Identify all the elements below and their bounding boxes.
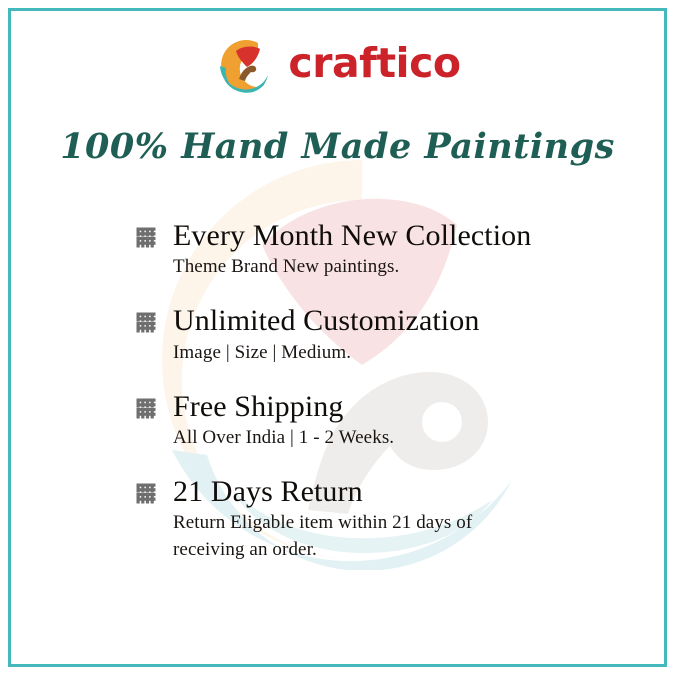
feature-title: Unlimited Customization	[173, 303, 616, 338]
list-item: Unlimited Customization Image | Size | M…	[136, 303, 616, 366]
feature-title: Every Month New Collection	[173, 218, 616, 253]
feature-title: Free Shipping	[173, 389, 616, 424]
brand-wordmark: craftico	[288, 43, 460, 88]
craftico-c-paintbrush-logo	[214, 35, 274, 95]
brand-logo-lockup: craftico	[0, 32, 675, 98]
feature-subtitle: Return Eligable item within 21 days of r…	[173, 510, 493, 564]
feature-list: Every Month New Collection Theme Brand N…	[136, 218, 616, 564]
promo-card: craftico 100% Hand Made Paintings Every …	[0, 0, 675, 675]
page-title: 100% Hand Made Paintings	[0, 126, 675, 167]
feature-subtitle: All Over India | 1 - 2 Weeks.	[173, 425, 616, 452]
list-item: 21 Days Return Return Eligable item with…	[136, 474, 616, 564]
woven-square-bullet-icon	[136, 227, 157, 248]
woven-square-bullet-icon	[136, 312, 157, 333]
woven-square-bullet-icon	[136, 398, 157, 419]
list-item: Every Month New Collection Theme Brand N…	[136, 218, 616, 281]
feature-title: 21 Days Return	[173, 474, 616, 509]
feature-subtitle: Theme Brand New paintings.	[173, 254, 616, 281]
woven-square-bullet-icon	[136, 483, 157, 504]
list-item: Free Shipping All Over India | 1 - 2 Wee…	[136, 389, 616, 452]
feature-subtitle: Image | Size | Medium.	[173, 340, 616, 367]
